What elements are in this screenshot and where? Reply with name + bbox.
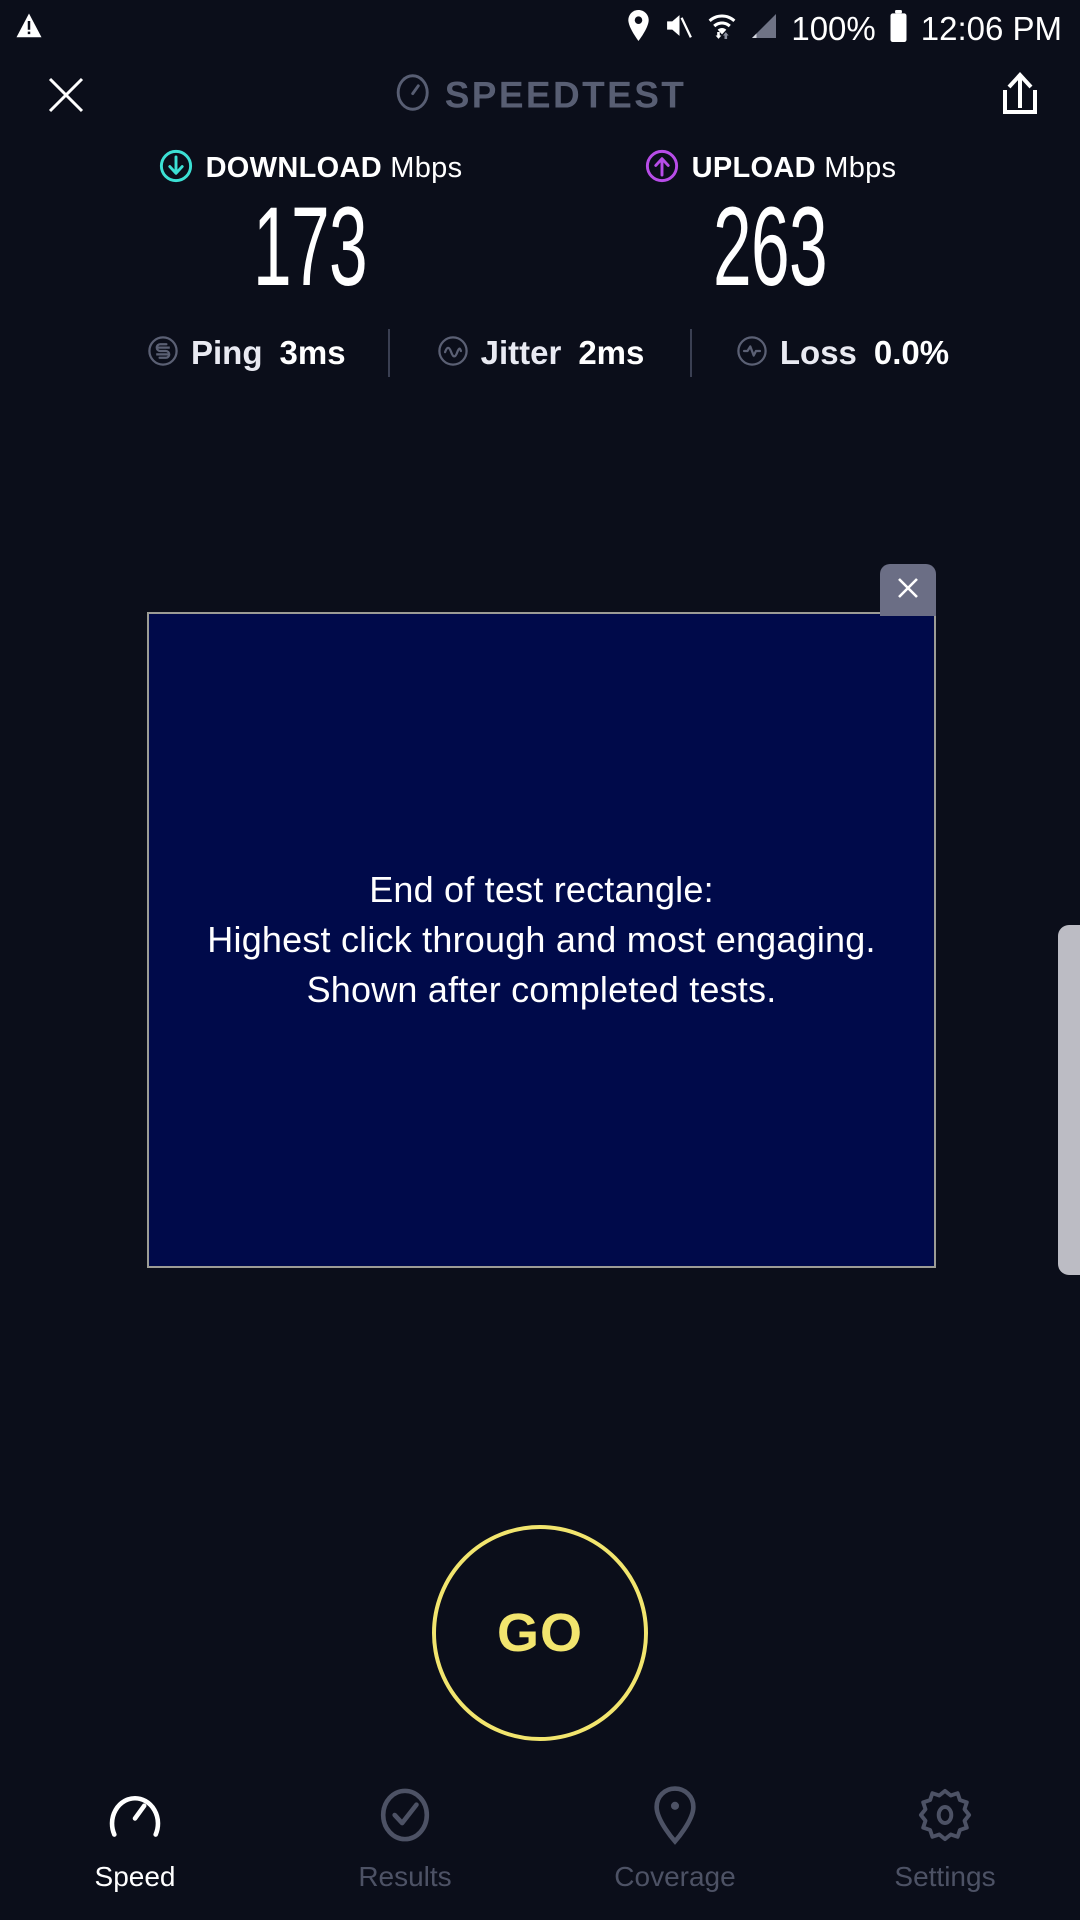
ad-line-2: Highest click through and most engaging. xyxy=(207,915,875,965)
download-value: 173 xyxy=(189,190,431,304)
gear-icon xyxy=(914,1784,976,1851)
download-header: DOWNLOAD Mbps xyxy=(115,148,505,188)
volume-muted-icon xyxy=(664,11,695,45)
ping-icon xyxy=(146,334,180,373)
check-circle-icon xyxy=(374,1784,436,1851)
upload-arrow-icon xyxy=(644,148,680,189)
status-bar-right: 100% 12:06 PM xyxy=(625,10,1062,47)
speedtest-app-screen: 100% 12:06 PM SPEEDTEST xyxy=(0,0,1080,1920)
battery-full-icon xyxy=(888,10,909,47)
nav-label-speed: Speed xyxy=(95,1861,176,1893)
nav-label-coverage: Coverage xyxy=(614,1861,735,1893)
status-bar-left xyxy=(14,11,44,46)
upload-label: UPLOAD Mbps xyxy=(692,152,897,185)
status-bar-clock: 12:06 PM xyxy=(921,12,1062,45)
nav-item-coverage[interactable]: Coverage xyxy=(540,1784,810,1893)
share-icon[interactable] xyxy=(992,67,1048,123)
page-scrollbar[interactable] xyxy=(1058,925,1080,1275)
go-button-wrapper: GO xyxy=(432,1525,648,1741)
ping-jitter-loss-row: Ping 3ms Jitter 2ms xyxy=(0,322,1080,384)
speedometer-icon xyxy=(394,74,432,117)
nav-item-results[interactable]: Results xyxy=(270,1784,540,1893)
upload-value: 263 xyxy=(649,190,891,304)
nav-label-results: Results xyxy=(358,1861,451,1893)
nav-item-settings[interactable]: Settings xyxy=(810,1784,1080,1893)
go-button[interactable]: GO xyxy=(432,1525,648,1741)
loss-metric: Loss 0.0% xyxy=(692,334,992,373)
warning-triangle-icon xyxy=(14,11,44,46)
speed-row: DOWNLOAD Mbps 173 UPLOAD Mbps 263 xyxy=(0,134,1080,304)
brand: SPEEDTEST xyxy=(394,74,687,117)
loss-value: 0.0% xyxy=(874,334,949,372)
jitter-metric: Jitter 2ms xyxy=(390,334,690,373)
ad-line-1: End of test rectangle: xyxy=(207,865,875,915)
nav-item-speed[interactable]: Speed xyxy=(0,1784,270,1893)
bottom-navigation: Speed Results Coverage xyxy=(0,1770,1080,1920)
ad-close-button[interactable] xyxy=(880,564,936,616)
wifi-icon xyxy=(707,10,737,46)
brand-title: SPEEDTEST xyxy=(445,74,687,116)
loss-icon xyxy=(735,334,769,373)
close-icon[interactable] xyxy=(38,67,94,123)
app-header: SPEEDTEST xyxy=(0,56,1080,134)
go-button-label: GO xyxy=(497,1602,583,1664)
ad-line-3: Shown after completed tests. xyxy=(207,965,875,1015)
jitter-value: 2ms xyxy=(578,334,644,372)
download-arrow-icon xyxy=(158,148,194,189)
location-pin-icon xyxy=(644,1784,706,1851)
loss-label: Loss xyxy=(780,334,857,372)
nav-label-settings: Settings xyxy=(894,1861,995,1893)
ping-value: 3ms xyxy=(280,334,346,372)
upload-header: UPLOAD Mbps xyxy=(575,148,965,188)
advertisement-banner[interactable]: End of test rectangle: Highest click thr… xyxy=(147,612,936,1268)
jitter-label: Jitter xyxy=(481,334,562,372)
download-metric: DOWNLOAD Mbps 173 xyxy=(115,148,505,304)
battery-percent-label: 100% xyxy=(791,12,875,45)
cellular-signal-icon xyxy=(749,12,779,45)
status-bar: 100% 12:06 PM xyxy=(0,0,1080,56)
location-pin-icon xyxy=(625,10,652,46)
ping-metric: Ping 3ms xyxy=(88,334,388,373)
jitter-icon xyxy=(436,334,470,373)
upload-metric: UPLOAD Mbps 263 xyxy=(575,148,965,304)
speedometer-icon xyxy=(104,1784,166,1851)
ping-label: Ping xyxy=(191,334,263,372)
results-summary: DOWNLOAD Mbps 173 UPLOAD Mbps 263 xyxy=(0,134,1080,384)
close-icon xyxy=(892,572,924,609)
ad-text: End of test rectangle: Highest click thr… xyxy=(207,865,875,1014)
download-label: DOWNLOAD Mbps xyxy=(206,152,463,185)
